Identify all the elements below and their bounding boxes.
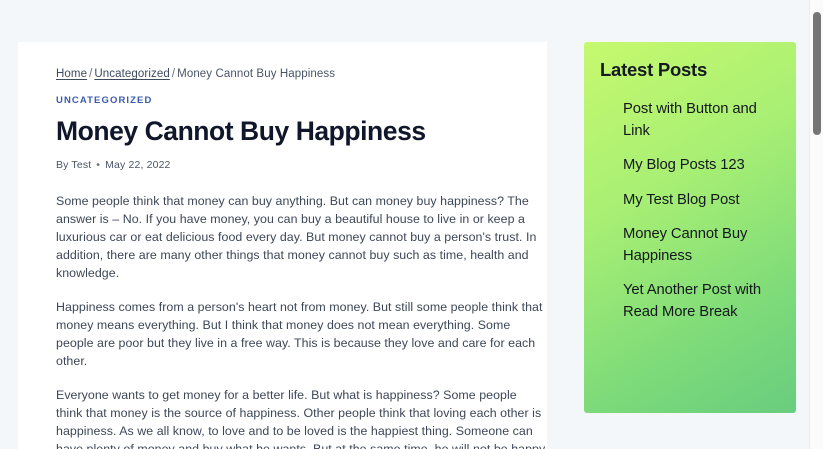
- article-card: Home/Uncategorized/Money Cannot Buy Happ…: [18, 42, 547, 449]
- latest-post-link[interactable]: My Blog Posts 123: [623, 157, 745, 173]
- vertical-scrollbar-track[interactable]: [809, 0, 823, 449]
- latest-posts-widget: Latest Posts Post with Button and Link M…: [584, 42, 796, 413]
- page-title: Money Cannot Buy Happiness: [56, 115, 521, 147]
- breadcrumb-link-category[interactable]: Uncategorized: [94, 68, 169, 80]
- post-paragraph: Happiness comes from a person's heart no…: [56, 299, 546, 371]
- category-eyebrow-label[interactable]: UNCATEGORIZED: [56, 95, 521, 107]
- breadcrumb: Home/Uncategorized/Money Cannot Buy Happ…: [56, 67, 521, 82]
- latest-post-link[interactable]: Post with Button and Link: [623, 101, 757, 139]
- breadcrumb-link-home[interactable]: Home: [56, 68, 87, 80]
- latest-post-link[interactable]: Yet Another Post with Read More Break: [623, 282, 761, 320]
- list-item: My Blog Posts 123: [584, 155, 796, 177]
- list-item: My Test Blog Post: [584, 190, 796, 212]
- post-paragraph: Everyone wants to get money for a better…: [56, 387, 546, 449]
- browser-viewport: Home/Uncategorized/Money Cannot Buy Happ…: [0, 0, 823, 449]
- page-content: Home/Uncategorized/Money Cannot Buy Happ…: [0, 0, 809, 449]
- post-meta: By Test•May 22, 2022: [56, 158, 521, 172]
- breadcrumb-current: Money Cannot Buy Happiness: [177, 68, 335, 80]
- meta-separator-dot: •: [91, 159, 105, 171]
- vertical-scrollbar-thumb[interactable]: [813, 12, 821, 135]
- latest-posts-list: Post with Button and Link My Blog Posts …: [584, 99, 796, 323]
- post-author: By Test: [56, 159, 91, 171]
- latest-post-link[interactable]: Money Cannot Buy Happiness: [623, 226, 747, 264]
- post-paragraph: Some people think that money can buy any…: [56, 193, 546, 283]
- list-item: Yet Another Post with Read More Break: [584, 280, 796, 323]
- list-item: Post with Button and Link: [584, 99, 796, 142]
- list-item: Money Cannot Buy Happiness: [584, 224, 796, 267]
- latest-posts-title: Latest Posts: [600, 58, 796, 82]
- latest-post-link[interactable]: My Test Blog Post: [623, 192, 739, 208]
- post-date: May 22, 2022: [105, 159, 170, 171]
- post-body: Some people think that money can buy any…: [56, 193, 546, 449]
